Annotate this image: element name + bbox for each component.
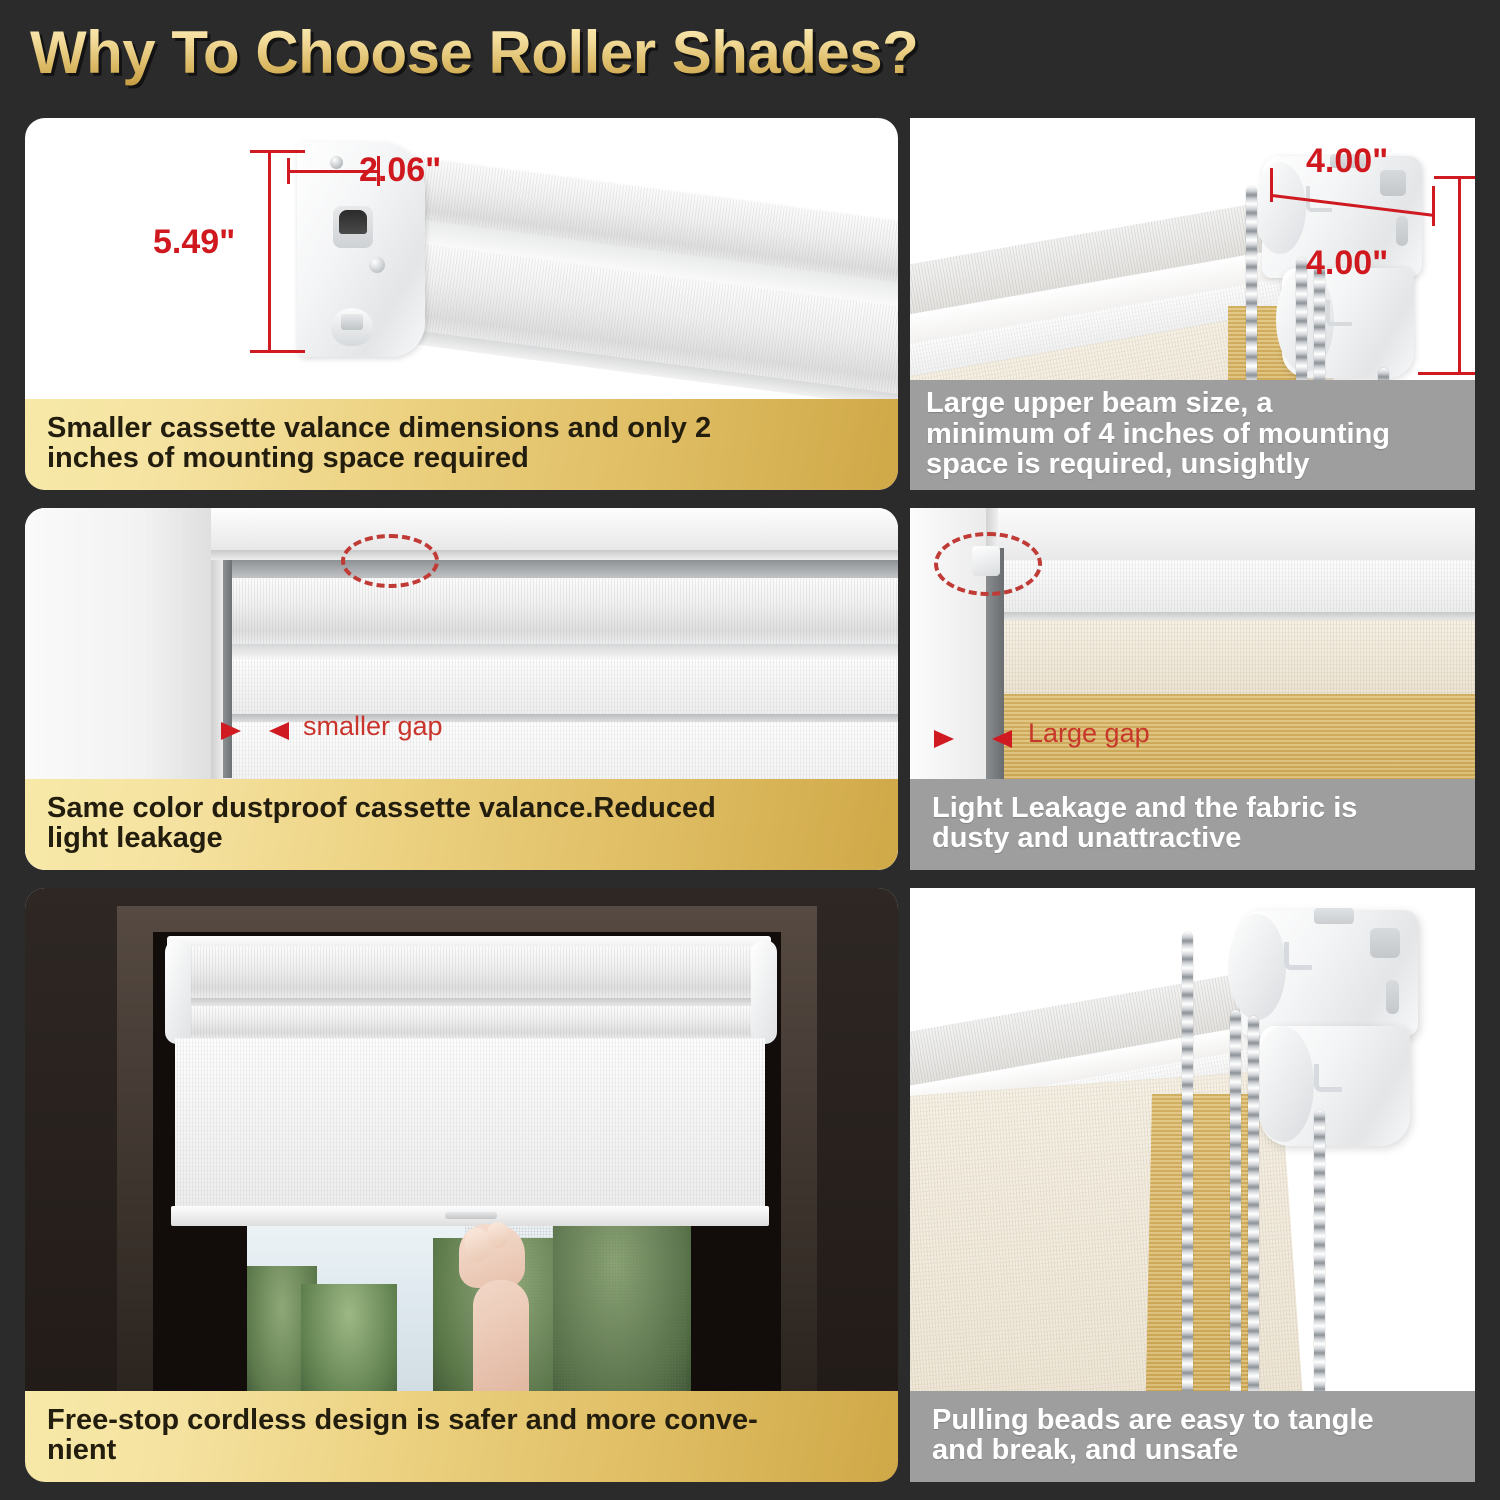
caption-line: nient	[47, 1435, 878, 1466]
width-tick-left	[287, 158, 290, 184]
caption-con-beam-size: Large upper beam size, a minimum of 4 in…	[910, 380, 1475, 490]
height-tick-top	[1434, 176, 1475, 179]
height-dimension-label: 5.49"	[153, 223, 235, 262]
caption-con-beads: Pulling beads are easy to tangle and bre…	[910, 1391, 1475, 1482]
panel-con-beads: Pulling beads are easy to tangle and bre…	[910, 888, 1475, 1482]
caption-line: light leakage	[47, 823, 878, 854]
caption-con-light-leakage: Light Leakage and the fabric is dusty an…	[910, 779, 1475, 870]
caption-line: and break, and unsafe	[932, 1435, 1455, 1466]
highlight-ellipse	[341, 534, 439, 588]
caption-line: Free-stop cordless design is safer and m…	[47, 1405, 878, 1436]
forearm	[473, 1280, 529, 1406]
infographic-page: Why To Choose Roller Shades? Why To Choo…	[0, 0, 1500, 1500]
gap-arrow-left	[934, 730, 954, 748]
panel-pro-cassette-size: 5.49" 2.06" Smaller cassette valance dim…	[25, 118, 898, 490]
caption-line: space is required, unsightly	[926, 449, 1461, 480]
gap-arrow-right	[269, 722, 289, 740]
height-dimension-line	[1458, 176, 1461, 374]
height-dimension-line	[268, 150, 271, 353]
caption-line: Same color dustproof cassette valance.Re…	[47, 793, 878, 824]
panel-con-beam-size: 4.00" 4.00" Large upper beam size, a min…	[910, 118, 1475, 490]
gap-label: Large gap	[1028, 718, 1150, 749]
caption-pro-cordless: Free-stop cordless design is safer and m…	[25, 1391, 898, 1482]
width-tick-left	[1270, 168, 1273, 202]
caption-line: inches of mounting space required	[47, 443, 878, 474]
gap-label: smaller gap	[303, 711, 443, 742]
caption-line: minimum of 4 inches of mounting	[926, 419, 1461, 450]
bottom-rail-grip	[445, 1212, 497, 1219]
panel-con-light-leakage: Large gap Light Leakage and the fabric i…	[910, 508, 1475, 870]
highlight-ellipse	[934, 532, 1042, 596]
panel-pro-cordless: Free-stop cordless design is safer and m…	[25, 888, 898, 1482]
page-title: Why To Choose Roller Shades?	[30, 18, 918, 87]
gap-arrow-right	[992, 730, 1012, 748]
width-dimension-label: 4.00"	[1306, 142, 1388, 181]
gap-arrow-left	[221, 722, 241, 740]
width-tick-right	[1432, 186, 1435, 226]
height-tick-bottom	[1418, 372, 1475, 375]
caption-line: Light Leakage and the fabric is	[932, 793, 1455, 824]
caption-line: Pulling beads are easy to tangle	[932, 1405, 1455, 1436]
height-tick-top	[250, 150, 305, 153]
caption-line: Smaller cassette valance dimensions and …	[47, 413, 878, 444]
height-dimension-label: 4.00"	[1306, 244, 1388, 283]
width-dimension-label: 2.06"	[359, 151, 441, 190]
caption-line: dusty and unattractive	[932, 823, 1455, 854]
panel-pro-light-leakage: smaller gap Same color dustproof cassett…	[25, 508, 898, 870]
gap-strip	[223, 560, 232, 778]
caption-line: Large upper beam size, a	[926, 388, 1461, 419]
caption-pro-cassette-size: Smaller cassette valance dimensions and …	[25, 399, 898, 490]
caption-pro-light-leakage: Same color dustproof cassette valance.Re…	[25, 779, 898, 870]
height-tick-bottom	[250, 350, 305, 353]
